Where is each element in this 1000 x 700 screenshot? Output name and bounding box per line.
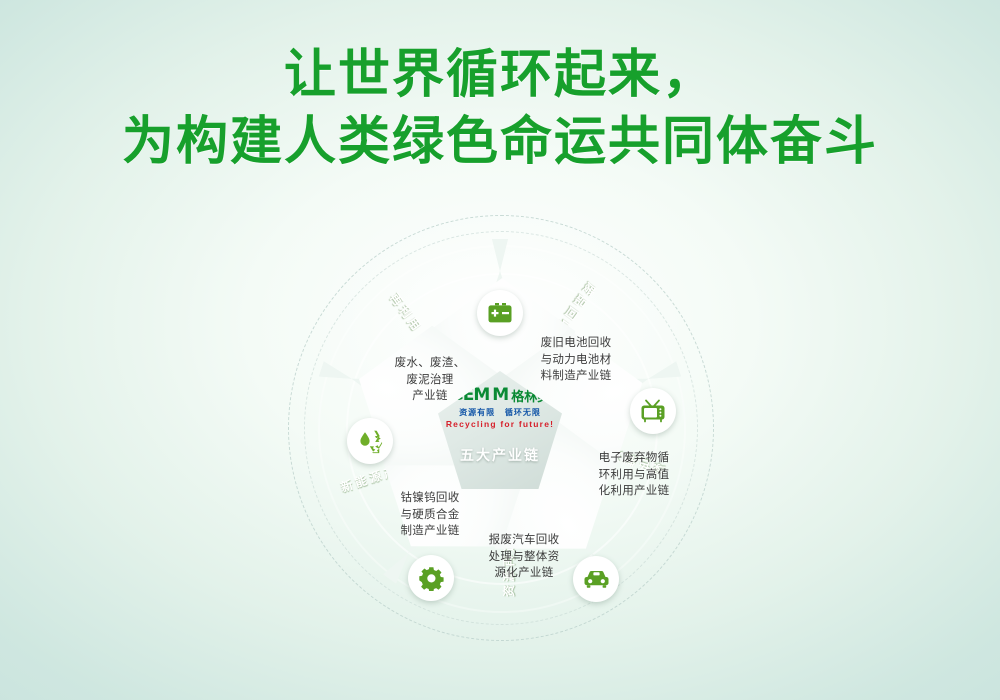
battery-icon	[487, 302, 513, 324]
chain-text-scrap-car: 报废汽车回收 处理与整体资 源化产业链	[476, 532, 572, 582]
headline-line-2: 为构建人类绿色命运共同体奋斗	[0, 109, 1000, 176]
poster-canvas: 让世界循环起来， 为构建人类绿色命运共同体奋斗 废品回收 绿色制造 资源再造 新…	[0, 0, 1000, 700]
gear-icon-bubble[interactable]	[408, 555, 454, 601]
television-icon	[640, 399, 666, 423]
water-recycle-icon	[357, 429, 384, 454]
brand-logo-latin-accent: M	[492, 385, 508, 405]
page-title: 让世界循环起来， 为构建人类绿色命运共同体奋斗	[0, 42, 1000, 175]
car-icon-bubble[interactable]	[573, 556, 619, 602]
brand-slogan-cn: 资源有限 循环无限	[459, 407, 541, 418]
chain-text-scrap-car-line2: 处理与整体资	[476, 549, 572, 566]
chain-text-battery-line1: 废旧电池回收	[528, 335, 624, 352]
chain-text-waste-water-line1: 废水、废渣、	[382, 355, 478, 372]
chain-text-cobalt: 钴镍钨回收 与硬质合金 制造产业链	[382, 490, 478, 540]
chain-text-e-waste-line3: 化利用产业链	[586, 483, 682, 500]
chain-text-battery: 废旧电池回收 与动力电池材 料制造产业链	[528, 335, 624, 385]
chain-text-cobalt-line2: 与硬质合金	[382, 507, 478, 524]
chain-text-scrap-car-line3: 源化产业链	[476, 565, 572, 582]
chain-text-e-waste: 电子废弃物循 环利用与高值 化利用产业链	[586, 450, 682, 500]
chain-text-cobalt-line3: 制造产业链	[382, 523, 478, 540]
chain-text-waste-water-line3: 产业链	[382, 388, 478, 405]
chain-text-battery-line2: 与动力电池材	[528, 352, 624, 369]
chain-text-cobalt-line1: 钴镍钨回收	[382, 490, 478, 507]
center-title: 五大产业链	[460, 445, 540, 465]
television-icon-bubble[interactable]	[630, 388, 676, 434]
battery-icon-bubble[interactable]	[477, 290, 523, 336]
chain-text-e-waste-line2: 环利用与高值	[586, 467, 682, 484]
brand-slogan-cn-left: 资源有限	[459, 408, 495, 417]
chain-text-e-waste-line1: 电子废弃物循	[586, 450, 682, 467]
headline-line-1: 让世界循环起来，	[0, 42, 1000, 109]
chain-text-scrap-car-line1: 报废汽车回收	[476, 532, 572, 549]
car-icon	[583, 569, 610, 589]
brand-slogan-en: Recycling for future!	[446, 419, 554, 429]
chain-text-waste-water-line2: 废泥治理	[382, 372, 478, 389]
water-recycle-icon-bubble[interactable]	[347, 418, 393, 464]
value-chain-diagram: 废品回收 绿色制造 资源再造 新能源产品 再利用 GEMM 格林美 资源有限	[290, 215, 710, 675]
gear-icon	[419, 566, 444, 591]
chain-text-battery-line3: 料制造产业链	[528, 368, 624, 385]
brand-slogan-cn-right: 循环无限	[505, 408, 541, 417]
chain-text-waste-water: 废水、废渣、 废泥治理 产业链	[382, 355, 478, 405]
